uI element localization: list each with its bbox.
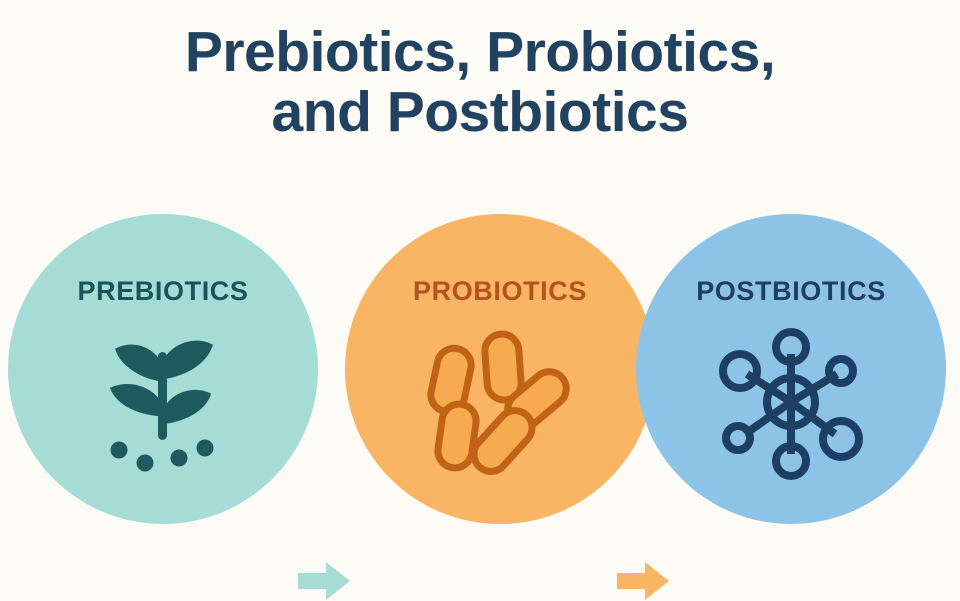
stage-label-postbiotics: POSTBIOTICS (636, 276, 946, 307)
title-line-2: and Postbiotics (0, 82, 960, 142)
stage-circle-postbiotics[interactable]: POSTBIOTICS (636, 214, 946, 524)
stage-circle-probiotics[interactable]: PROBIOTICS (345, 214, 655, 524)
stage-label-probiotics: PROBIOTICS (345, 276, 655, 307)
arrow-prebiotics-to-probiotics (298, 561, 350, 601)
infographic-canvas: Prebiotics, Probiotics, and Postbiotics … (0, 0, 960, 543)
stage-label-prebiotics: PREBIOTICS (8, 276, 318, 307)
process-flow: PREBIOTICS (0, 212, 960, 532)
molecule-network-icon (711, 322, 871, 482)
stage-circle-prebiotics[interactable]: PREBIOTICS (8, 214, 318, 524)
arrow-probiotics-to-postbiotics (617, 561, 669, 601)
title-line-1: Prebiotics, Probiotics, (0, 22, 960, 82)
page-title: Prebiotics, Probiotics, and Postbiotics (0, 22, 960, 143)
sprout-plant-icon (83, 322, 243, 482)
bacteria-rods-icon (420, 322, 580, 482)
